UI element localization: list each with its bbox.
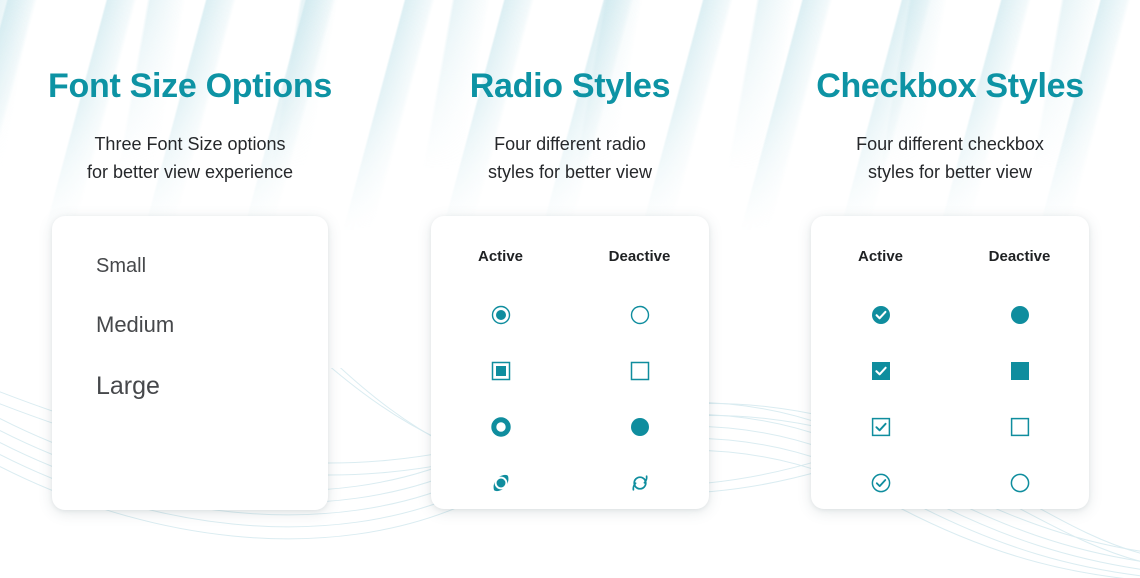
page-title: Radio Styles: [470, 68, 670, 105]
radio-styles-card: Active Deactive: [431, 216, 709, 509]
page-title: Font Size Options: [48, 68, 332, 105]
checkbox-square-solid-icon[interactable]: [950, 361, 1089, 381]
checkbox-column-headers: Active Deactive: [811, 248, 1089, 265]
column-radio-styles: Radio Styles Four different radio styles…: [380, 0, 760, 510]
radio-style-row: [431, 343, 709, 399]
radio-slashed-circle-filled-icon[interactable]: [431, 472, 570, 494]
column-header-active: Active: [811, 248, 950, 265]
checkbox-circle-outline-check-icon[interactable]: [811, 473, 950, 493]
radio-slashed-circle-outline-icon[interactable]: [570, 472, 709, 494]
columns-container: Font Size Options Three Font Size option…: [0, 0, 1140, 510]
checkbox-circle-outline-icon[interactable]: [950, 473, 1089, 493]
checkbox-square-filled-check-icon[interactable]: [811, 361, 950, 381]
radio-square-ring-filled-icon[interactable]: [431, 361, 570, 381]
radio-style-row: [431, 455, 709, 511]
radio-ring-empty-icon[interactable]: [570, 305, 709, 325]
checkbox-style-row: [811, 399, 1089, 455]
radio-ring-filled-dot-icon[interactable]: [431, 305, 570, 325]
radio-circle-solid-icon[interactable]: [570, 417, 709, 437]
column-header-deactive: Deactive: [950, 248, 1089, 265]
section-subtitle: Four different checkbox styles for bette…: [856, 131, 1044, 187]
checkbox-style-row: [811, 343, 1089, 399]
page-root: Font Size Options Three Font Size option…: [0, 0, 1140, 578]
page-title: Checkbox Styles: [816, 68, 1084, 105]
radio-square-ring-empty-icon[interactable]: [570, 361, 709, 381]
section-subtitle: Four different radio styles for better v…: [488, 131, 652, 187]
checkbox-styles-card: Active Deactive: [811, 216, 1089, 509]
checkbox-circle-filled-check-icon[interactable]: [811, 305, 950, 325]
column-header-deactive: Deactive: [570, 248, 709, 265]
section-subtitle: Three Font Size options for better view …: [87, 131, 293, 187]
checkbox-circle-solid-icon[interactable]: [950, 305, 1089, 325]
font-size-option-medium[interactable]: Medium: [96, 314, 328, 336]
font-size-card: Small Medium Large: [52, 216, 328, 510]
column-checkbox-styles: Checkbox Styles Four different checkbox …: [760, 0, 1140, 510]
font-size-option-large[interactable]: Large: [96, 374, 328, 399]
font-size-option-small[interactable]: Small: [96, 256, 328, 276]
column-font-size-options: Font Size Options Three Font Size option…: [0, 0, 380, 510]
column-header-active: Active: [431, 248, 570, 265]
checkbox-style-row: [811, 455, 1089, 511]
checkbox-style-row: [811, 287, 1089, 343]
checkbox-square-outline-icon[interactable]: [950, 417, 1089, 437]
radio-column-headers: Active Deactive: [431, 248, 709, 265]
radio-style-row: [431, 287, 709, 343]
radio-style-row: [431, 399, 709, 455]
checkbox-square-outline-check-icon[interactable]: [811, 417, 950, 437]
radio-donut-filled-icon[interactable]: [431, 417, 570, 437]
